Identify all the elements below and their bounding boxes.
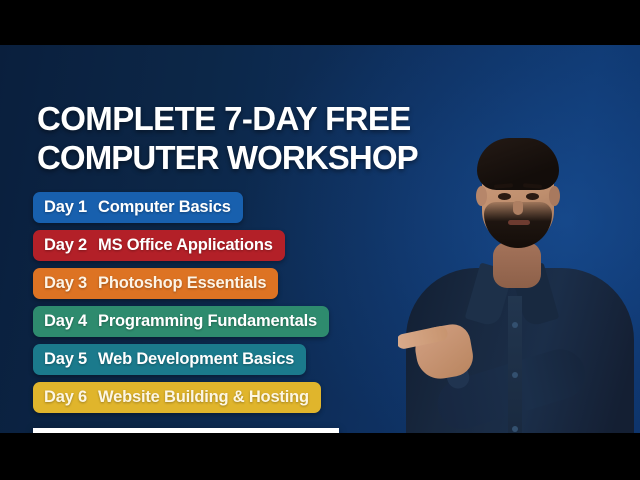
day-badge-2[interactable]: Day 2MS Office Applications — [33, 230, 285, 261]
headline-line-1: COMPLETE 7-DAY FREE — [37, 100, 418, 139]
letterbox-bar-top — [0, 0, 640, 45]
presenter-ear-left — [476, 186, 487, 206]
shirt-button — [512, 372, 518, 378]
day-badge-5[interactable]: Day 5Web Development Basics — [33, 344, 306, 375]
day-number: Day 2 — [44, 236, 87, 255]
poster-background: COMPLETE 7-DAY FREE COMPUTER WORKSHOP Da… — [0, 45, 640, 433]
day-topic: Programming Fundamentals — [98, 312, 317, 331]
day-topic: Web Development Basics — [98, 350, 294, 369]
day-badge-3[interactable]: Day 3Photoshop Essentials — [33, 268, 278, 299]
day-number: Day 5 — [44, 350, 87, 369]
presenter-photo — [398, 90, 640, 433]
shirt-button — [512, 322, 518, 328]
day-number: Day 1 — [44, 198, 87, 217]
day-topic: Website Building & Hosting — [98, 388, 309, 407]
day-number: Day 4 — [44, 312, 87, 331]
letterbox-bar-bottom — [0, 433, 640, 480]
day-badge-4[interactable]: Day 4Programming Fundamentals — [33, 306, 329, 337]
page-title: COMPLETE 7-DAY FREE COMPUTER WORKSHOP — [37, 100, 418, 177]
presenter-neck — [493, 242, 541, 288]
presenter-hair — [477, 138, 559, 190]
presenter-ear-right — [549, 186, 560, 206]
day-badge-1[interactable]: Day 1Computer Basics — [33, 192, 243, 223]
day-badge-6[interactable]: Day 6Website Building & Hosting — [33, 382, 321, 413]
video-thumbnail: COMPLETE 7-DAY FREE COMPUTER WORKSHOP Da… — [0, 0, 640, 480]
day-topic: Photoshop Essentials — [98, 274, 266, 293]
headline-line-2: COMPUTER WORKSHOP — [37, 139, 418, 178]
day-topic: MS Office Applications — [98, 236, 273, 255]
day-topic: Computer Basics — [98, 198, 231, 217]
presenter-eye-right — [526, 193, 539, 200]
shirt-button — [512, 426, 518, 432]
presenter-mouth — [508, 220, 530, 225]
presenter-shirt-placket — [508, 296, 522, 433]
day-list: Day 1Computer BasicsDay 2MS Office Appli… — [33, 192, 329, 413]
day-number: Day 3 — [44, 274, 87, 293]
day-number: Day 6 — [44, 388, 87, 407]
presenter-nose — [513, 201, 523, 215]
presenter-eye-left — [498, 193, 511, 200]
